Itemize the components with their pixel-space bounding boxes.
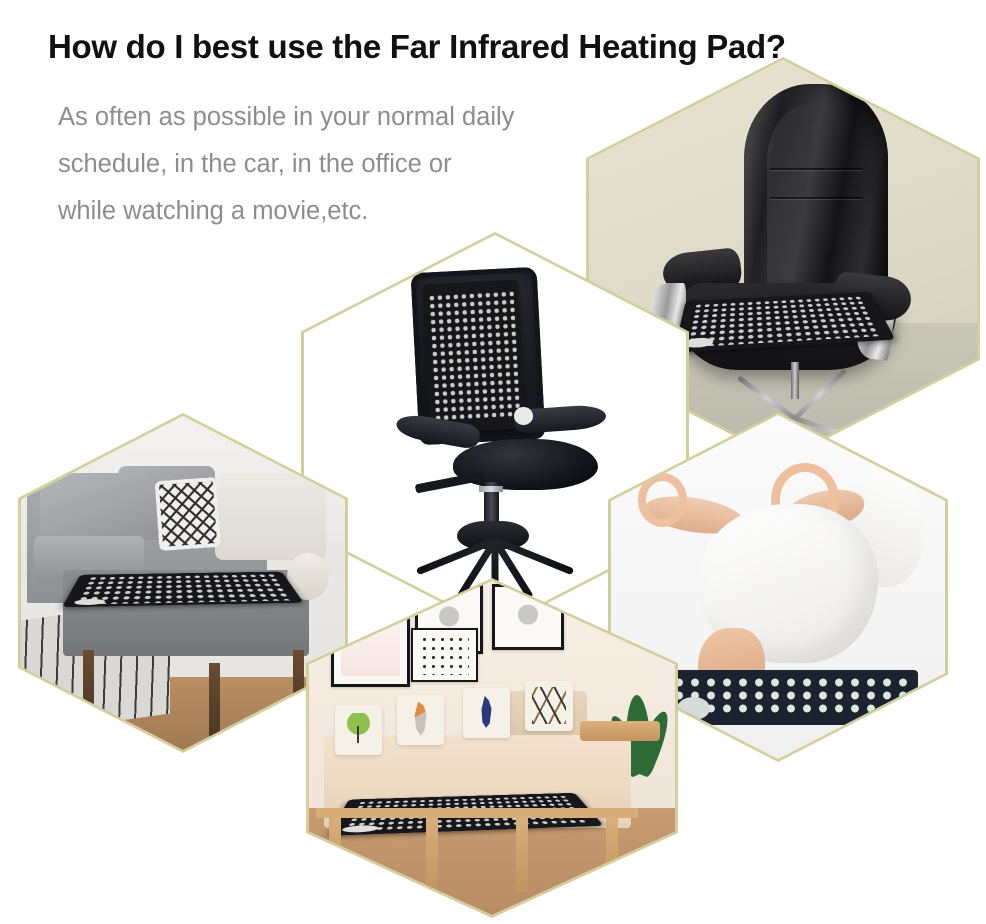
ottoman-leg [209, 663, 220, 736]
executive-chair-base [694, 362, 896, 426]
description-line-3: while watching a movie,etc. [58, 188, 658, 235]
ottoman-leg [293, 650, 304, 717]
infographic-page: How do I best use the Far Infrared Heati… [0, 0, 986, 924]
page-title: How do I best use the Far Infrared Heati… [48, 28, 948, 66]
throw-pillow-blue-deer [463, 688, 511, 738]
grey-sofa-photo [21, 416, 345, 750]
jade-stone-grid [686, 295, 882, 347]
jade-heating-pad [422, 280, 525, 434]
ottoman-leg [83, 650, 94, 723]
pad-controller [73, 599, 107, 606]
far-infrared-heating-mat [644, 670, 918, 725]
description-line-1: As often as possible in your normal dail… [58, 94, 658, 141]
sofa-wood-base [316, 808, 638, 891]
left-hand-mudra [638, 473, 687, 527]
wall-art-frame-dots [411, 628, 477, 682]
throw-pillow-branches [525, 681, 573, 731]
jade-heating-pad [62, 572, 304, 608]
hex-grey-sofa [18, 413, 348, 753]
jade-stone-grid [428, 290, 521, 422]
description-text: As often as possible in your normal dail… [58, 94, 658, 235]
throw-pillow-orange-deer [397, 695, 445, 745]
white-cushion [215, 473, 325, 560]
throw-pillow-tree [335, 705, 383, 755]
description-line-2: schedule, in the car, in the office or [58, 141, 658, 188]
jade-stone-grid [75, 574, 290, 605]
geometric-throw-pillow [155, 477, 221, 551]
sofa-wooden-armrest [580, 721, 661, 741]
